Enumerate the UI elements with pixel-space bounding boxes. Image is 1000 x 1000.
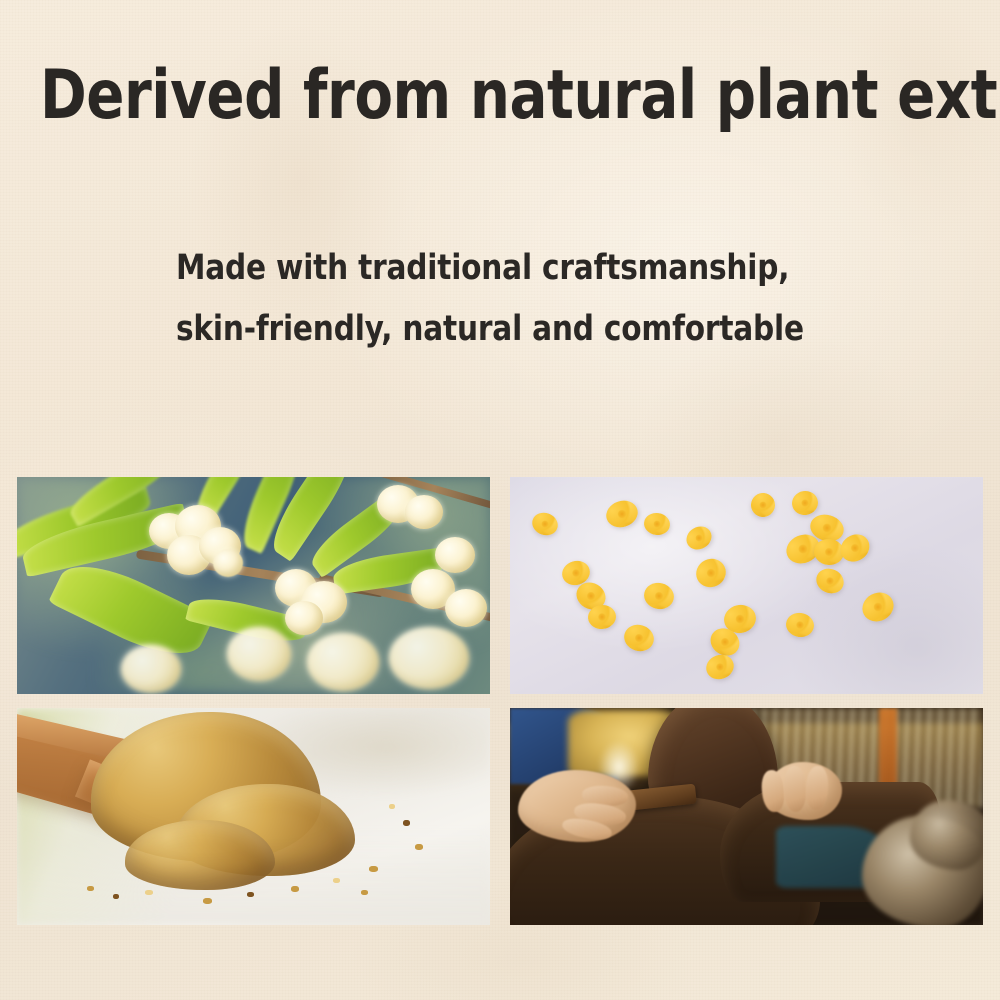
dried-petal	[87, 886, 94, 891]
dried-petal	[361, 890, 368, 895]
subtitle-block: Made with traditional craftsmanship, ski…	[176, 238, 804, 360]
dried-petal	[369, 866, 378, 872]
product-feature-poster: Derived from natural plant extracts Made…	[0, 0, 1000, 1000]
dried-petal	[247, 892, 254, 897]
dried-petal	[333, 878, 340, 883]
dried-petal	[113, 894, 119, 899]
flower-cluster	[307, 633, 379, 691]
dried-flower-heap	[125, 820, 275, 890]
flower-cluster	[121, 645, 181, 693]
gallery-image-osmanthus-branch	[17, 477, 490, 694]
dried-petal	[145, 890, 153, 895]
gallery-image-osmanthus-blossoms	[510, 477, 983, 694]
flower-cluster	[389, 627, 469, 689]
dried-petal	[291, 886, 299, 892]
dried-petal	[403, 820, 410, 826]
shelf-post	[879, 708, 897, 792]
subtitle-line-1: Made with traditional craftsmanship,	[176, 238, 804, 299]
subtitle-line-2: skin-friendly, natural and comfortable	[176, 299, 804, 360]
dried-petal	[203, 898, 212, 904]
photo-gallery	[17, 477, 983, 925]
flower-cluster	[435, 537, 475, 573]
dried-petal	[389, 804, 395, 809]
flower-cluster	[285, 601, 323, 635]
flower-cluster	[405, 495, 443, 529]
dried-petal	[415, 844, 423, 850]
flower-cluster	[227, 627, 291, 681]
gallery-image-dried-osmanthus-scoop	[17, 708, 490, 925]
flower-cluster	[213, 549, 243, 577]
flower-cluster	[445, 589, 487, 627]
page-title: Derived from natural plant extracts	[40, 62, 960, 130]
finger	[783, 766, 807, 813]
gallery-image-traditional-grinder	[510, 708, 983, 925]
